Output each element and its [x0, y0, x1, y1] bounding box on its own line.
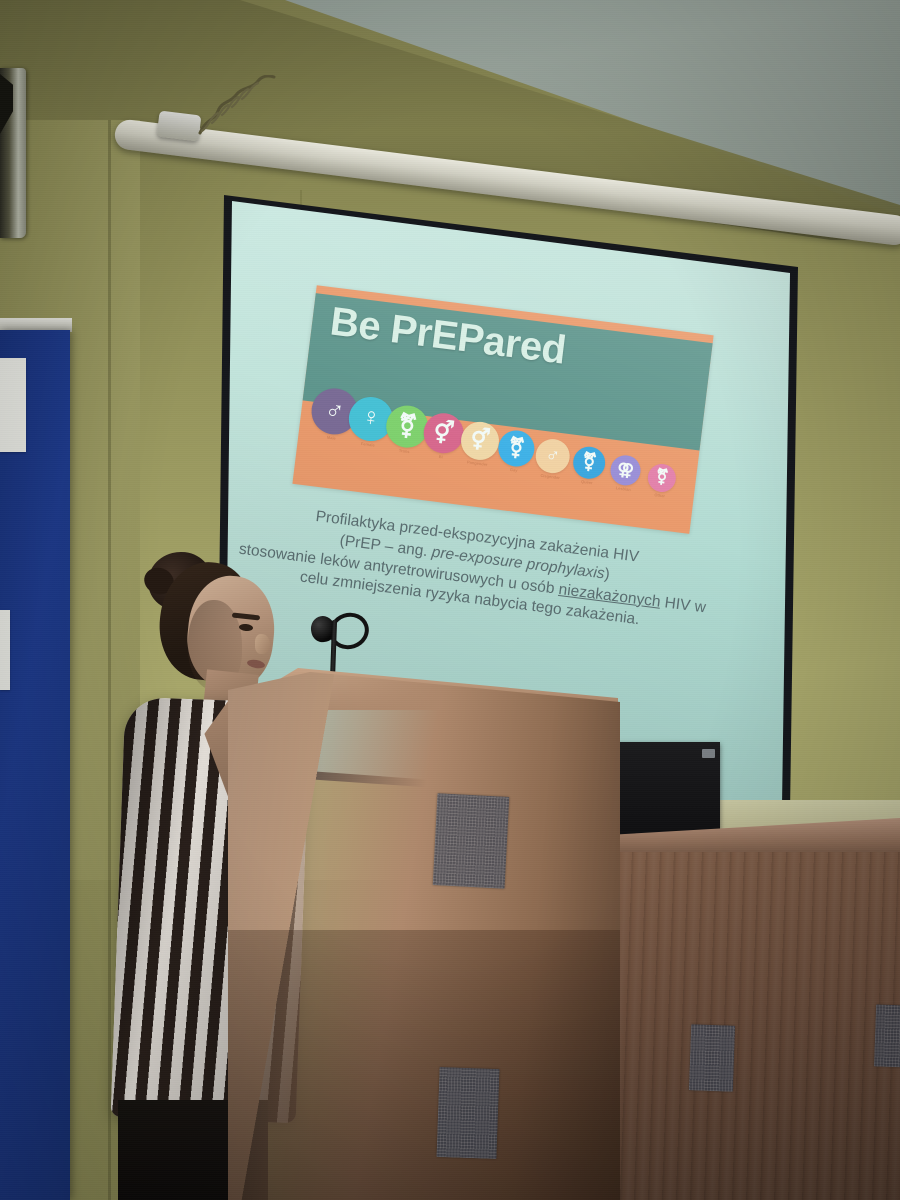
slide-line-2-suffix: ) — [604, 565, 611, 583]
laptop-badge-icon — [702, 749, 715, 758]
transgender-alt-symbol-icon: ⚧Gay — [496, 428, 536, 468]
gender-icon-label: Queer — [581, 479, 593, 485]
gender-glyph-icon: ⚧ — [396, 413, 418, 439]
gender-icon-label: Other — [654, 492, 665, 498]
gender-glyph-icon: ♂ — [545, 445, 561, 466]
slide-line-3-suffix: HIV w — [659, 593, 706, 616]
coiled-cable-icon — [196, 75, 306, 137]
androgyne-symbol-icon: ⚥Pangender — [459, 420, 501, 462]
wood-grain-texture — [590, 852, 900, 1200]
gender-glyph-icon: ⚥ — [432, 421, 455, 446]
lecture-photo: Be PrEPared ♂Male♀Female⚧Trans⚥Bi⚥Pangen… — [0, 0, 900, 1200]
gender-glyph-icon: ⚧ — [654, 469, 669, 486]
gender-glyph-icon: ⚥ — [469, 429, 491, 453]
neutrois-symbol-icon: ⚧Other — [646, 462, 677, 493]
gender-glyph-icon: ♂ — [323, 397, 345, 425]
gender-icon-label: Pangender — [467, 460, 488, 468]
gender-icon-label: Gay — [510, 467, 518, 473]
projection-screen-roller-bracket — [157, 111, 202, 142]
desk-speaker-grille — [874, 1004, 900, 1067]
desk-front-panel — [590, 852, 900, 1200]
gender-icon-label: Cisgender — [540, 472, 560, 479]
desk-speaker-grille — [689, 1024, 735, 1091]
gender-glyph-icon: ⚧ — [581, 453, 598, 473]
lectern — [228, 672, 620, 1200]
nose — [255, 634, 270, 654]
gender-icon-label: Lesbian — [615, 485, 631, 492]
genderqueer-symbol-icon: ⚧Queer — [571, 445, 607, 481]
gender-icon-label: Female — [361, 441, 375, 448]
gender-icon-label: Trans — [399, 447, 410, 453]
male-alt-symbol-icon: ♂Cisgender — [534, 437, 572, 475]
lectern-speaker-grille — [433, 793, 510, 889]
posted-paper — [0, 358, 26, 452]
posted-paper — [0, 610, 10, 690]
gender-glyph-icon: ⚧ — [507, 437, 526, 459]
intersex-symbol-icon: ⚥Bi — [421, 411, 466, 456]
lectern-speaker-grille — [436, 1067, 499, 1159]
slide-banner: Be PrEPared ♂Male♀Female⚧Trans⚥Bi⚥Pangen… — [292, 285, 713, 534]
doubled-female-symbol-icon: ⚢Lesbian — [609, 454, 642, 488]
notice-board — [0, 330, 70, 1200]
gender-icon-label: Male — [327, 435, 336, 441]
gender-glyph-icon: ⚢ — [616, 461, 635, 480]
gender-icon-label: Bi — [438, 454, 443, 459]
gender-glyph-icon: ♀ — [360, 405, 381, 432]
